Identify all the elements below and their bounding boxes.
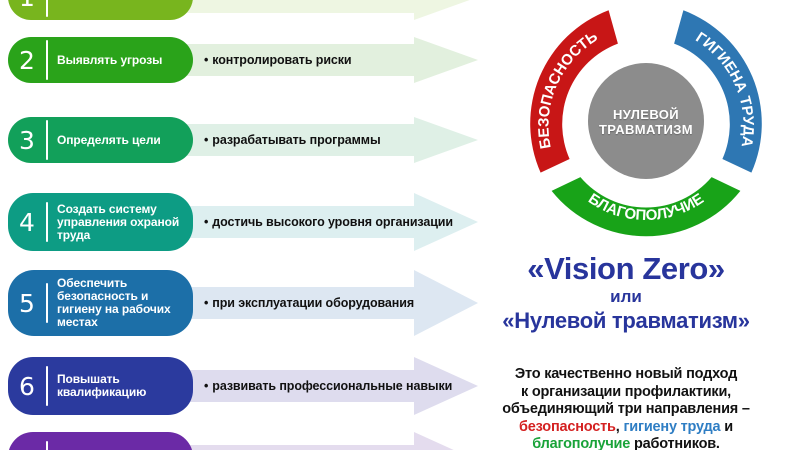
- step-pill-2[interactable]: 2 Выявлять угрозы: [8, 37, 193, 83]
- step-bullet-4: • достичь высокого уровня организации: [204, 193, 464, 251]
- step-number-3: 3: [8, 128, 46, 153]
- para-comma: ,: [616, 419, 620, 435]
- step-number-1: 1: [8, 0, 46, 10]
- step-pill-6[interactable]: 6 Повышать квалификацию: [8, 357, 193, 415]
- para-word-wellbeing: благополучие: [532, 436, 630, 450]
- step-bullet-text-5: при эксплуатации оборудования: [212, 296, 414, 310]
- bullet-dot-icon-3: •: [204, 133, 208, 147]
- step-bullet-3: • разрабатывать программы: [204, 117, 464, 163]
- step-title-2: Выявлять угрозы: [48, 54, 193, 67]
- para-line-1: Это качественно новый подход: [515, 366, 737, 382]
- para-line-3: объединяющий три направления –: [502, 401, 750, 417]
- step-bullet-2: • контролировать риски: [204, 37, 464, 83]
- step-pill-1[interactable]: 1: [8, 0, 193, 20]
- donut-center-line-1: НУЛЕВОЙ: [581, 107, 711, 122]
- step-bullet-text-6: развивать профессиональные навыки: [212, 379, 452, 393]
- para-line-2: к организации профилактики,: [521, 384, 731, 400]
- step-title-6: Повышать квалификацию: [48, 373, 193, 399]
- step-bullet-text-2: контролировать риски: [212, 53, 351, 67]
- step-pill-7[interactable]: 7: [8, 432, 193, 450]
- step-pill-5[interactable]: 5 Обеспечить безопасность и гигиену на р…: [8, 270, 193, 336]
- description-paragraph: Это качественно новый подход к организац…: [452, 366, 800, 450]
- infographic-page: 1 2 Выявлять угрозы • контролиров: [0, 0, 800, 450]
- donut-segment-wellbeing: [552, 177, 741, 236]
- step-bullet-7: [204, 432, 464, 450]
- step-number-5: 5: [8, 291, 46, 316]
- step-title-4: Создать систему управления охраной труда: [48, 203, 193, 242]
- title-or: или: [452, 286, 800, 307]
- para-and: и: [720, 419, 733, 435]
- step-bullet-6: • развивать профессиональные навыки: [204, 357, 464, 415]
- bullet-dot-icon-4: •: [204, 215, 208, 229]
- step-bullet-text-3: разрабатывать программы: [212, 133, 380, 147]
- title-vision-zero: «Vision Zero»: [452, 252, 800, 286]
- donut-center-label: НУЛЕВОЙ ТРАВМАТИЗМ: [581, 107, 711, 137]
- bullet-dot-icon-5: •: [204, 296, 208, 310]
- para-tail: работников.: [630, 436, 720, 450]
- step-number-2: 2: [8, 48, 46, 73]
- step-divider-7: [46, 441, 48, 450]
- step-pill-4[interactable]: 4 Создать систему управления охраной тру…: [8, 193, 193, 251]
- step-divider-1: [46, 0, 48, 17]
- step-number-4: 4: [8, 210, 46, 235]
- step-bullet-1: [204, 0, 464, 20]
- bullet-dot-icon-2: •: [204, 53, 208, 67]
- steps-column: 1 2 Выявлять угрозы • контролиров: [0, 0, 482, 450]
- step-title-5: Обеспечить безопасность и гигиену на раб…: [48, 277, 193, 329]
- para-word-hygiene: гигиену труда: [623, 419, 720, 435]
- step-bullet-text-4: достичь высокого уровня организации: [212, 215, 453, 229]
- vision-zero-donut-diagram: БЕЗОПАСНОСТЬ ГИГИЕНА ТРУДА БЛАГОПОЛУЧИЕ …: [496, 0, 796, 250]
- step-bullet-5: • при эксплуатации оборудования: [204, 270, 464, 336]
- title-block: «Vision Zero» или «Нулевой травматизм»: [452, 252, 800, 334]
- bullet-dot-icon-6: •: [204, 379, 208, 393]
- step-number-6: 6: [8, 374, 46, 399]
- step-pill-3[interactable]: 3 Определять цели: [8, 117, 193, 163]
- step-title-3: Определять цели: [48, 134, 193, 147]
- title-zero-injury: «Нулевой травматизм»: [452, 307, 800, 334]
- para-word-safety: безопасность: [519, 419, 616, 435]
- donut-center-line-2: ТРАВМАТИЗМ: [581, 122, 711, 137]
